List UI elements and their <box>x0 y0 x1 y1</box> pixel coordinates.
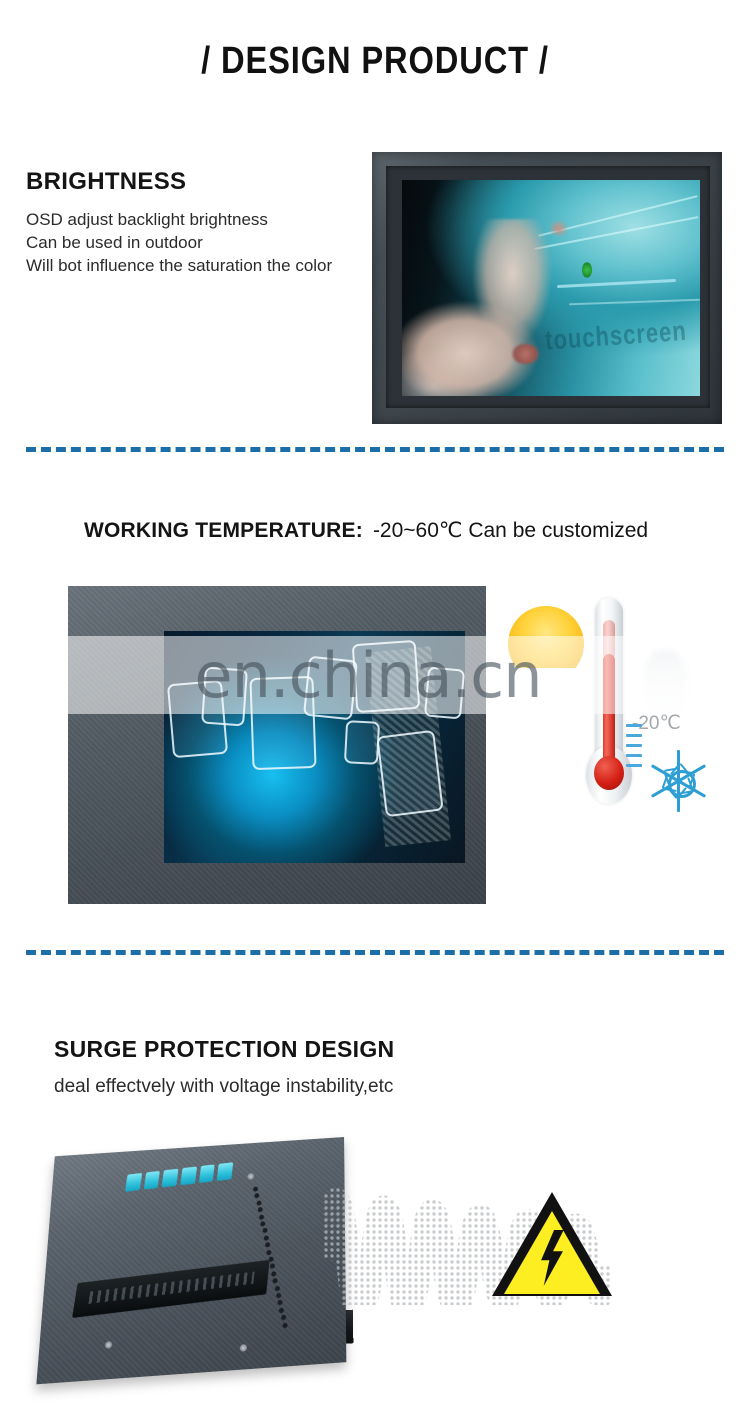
osd-button <box>199 1164 215 1183</box>
mounting-hole <box>265 1242 270 1248</box>
mounting-hole <box>277 1300 282 1306</box>
mounting-hole-column <box>251 1183 291 1335</box>
osd-button <box>125 1173 142 1192</box>
thermometer-tick <box>626 724 642 727</box>
touchscreen-monitor-photo: touchscreen <box>372 152 722 424</box>
working-temperature-value: -20~60℃ Can be customized <box>373 519 648 542</box>
panel-rear-plate <box>36 1137 346 1384</box>
vapor-icon <box>644 650 686 720</box>
page-title: / DESIGN PRODUCT / <box>53 40 698 83</box>
brightness-heading: BRIGHTNESS <box>26 168 186 196</box>
display-square <box>303 656 358 721</box>
working-temperature-heading-row: WORKING TEMPERATURE:-20~60℃ Can be custo… <box>84 518 648 543</box>
mounting-hole <box>271 1271 276 1277</box>
mounting-hole <box>261 1221 266 1226</box>
mounting-hole <box>267 1249 272 1255</box>
display-square <box>344 720 380 765</box>
design-product-page: / DESIGN PRODUCT / BRIGHTNESS OSD adjust… <box>0 0 750 1421</box>
monitor-screen: touchscreen <box>402 180 700 396</box>
mounting-hole <box>279 1307 284 1313</box>
screw-icon <box>240 1344 247 1352</box>
io-vent-housing <box>72 1260 270 1318</box>
temperature-range-graphic: -20℃ <box>498 592 724 832</box>
electrical-hazard-icon <box>492 1192 612 1298</box>
working-temperature-label: WORKING TEMPERATURE: <box>84 519 363 542</box>
thermometer-mercury <box>603 654 615 770</box>
thermometer-ball <box>594 756 624 790</box>
mounting-hole <box>259 1214 264 1219</box>
osd-button-strip <box>125 1162 233 1192</box>
display-square <box>351 640 420 713</box>
thermometer-tick <box>626 734 642 737</box>
blurred-hand <box>402 219 587 396</box>
sun-icon <box>500 598 592 668</box>
vent-slots <box>88 1272 254 1304</box>
mounting-hole <box>276 1293 281 1299</box>
mounting-hole <box>256 1200 261 1205</box>
screw-icon <box>105 1341 113 1349</box>
mounting-hole <box>281 1315 286 1321</box>
display-square <box>376 729 444 816</box>
thermometer-tick <box>626 764 642 767</box>
monitor-display <box>164 631 465 863</box>
screw-icon <box>247 1173 254 1180</box>
mounting-hole <box>255 1193 260 1198</box>
display-square <box>201 666 248 726</box>
mounting-hole <box>268 1256 273 1262</box>
snowflake-icon <box>642 744 716 818</box>
screen-line <box>569 299 700 306</box>
osd-button <box>217 1162 233 1181</box>
brightness-body: OSD adjust backlight brightness Can be u… <box>26 208 386 277</box>
section-divider-2 <box>26 950 724 955</box>
mounting-hole <box>253 1186 258 1191</box>
surge-protection-heading: SURGE PROTECTION DESIGN <box>54 1036 394 1063</box>
thumb-nail <box>512 344 539 363</box>
mounting-hole <box>274 1285 279 1291</box>
thermometer-tick <box>626 744 642 747</box>
osd-button <box>143 1171 160 1190</box>
thermometer-tick <box>626 754 642 757</box>
mounting-hole <box>262 1228 267 1233</box>
mounting-hole <box>282 1322 287 1328</box>
mounting-hole <box>258 1207 263 1212</box>
display-square <box>424 666 465 719</box>
industrial-monitor-photo <box>68 586 486 904</box>
mounting-hole <box>270 1264 275 1270</box>
fingertip <box>548 221 569 236</box>
section-divider-1 <box>26 447 724 452</box>
mounting-hole <box>264 1235 269 1240</box>
monitor-bezel: touchscreen <box>386 166 710 408</box>
osd-button <box>162 1169 179 1188</box>
surge-protection-body: deal effectvely with voltage instability… <box>54 1076 393 1098</box>
mounting-hole <box>273 1278 278 1284</box>
thermometer-icon <box>582 598 636 826</box>
osd-button <box>180 1167 197 1186</box>
